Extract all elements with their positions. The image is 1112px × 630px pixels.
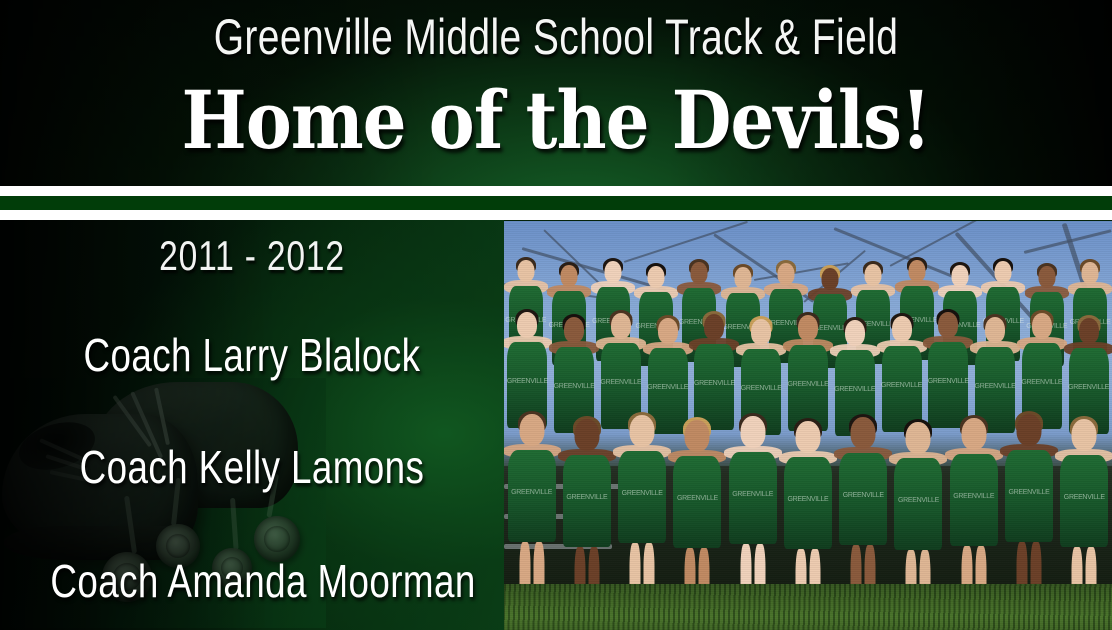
face [851,417,876,449]
tree-branch [624,221,748,263]
season-years: 2011 - 2012 [50,232,453,280]
coaches-panel: 2011 - 2012 Coach Larry Blalock Coach Ke… [0,220,504,630]
face [1082,262,1099,284]
jersey-text: GREENVILLE [666,495,728,502]
face [845,320,865,346]
jersey [1060,455,1108,547]
face [865,264,882,286]
divider-stripe-white-top [0,186,1112,196]
face [611,313,631,339]
divider-stripe-green [0,196,1112,210]
jersey [508,450,556,542]
face [519,414,544,446]
face [892,316,912,342]
face [751,319,771,345]
slogan-title: Home of the Devils! [78,80,1034,160]
face [564,317,584,343]
face [1038,266,1055,288]
face [985,317,1005,343]
jersey-text: GREENVILLE [504,489,563,496]
jersey-text: GREENVILLE [998,489,1060,496]
jersey [839,453,887,545]
face [517,260,534,282]
jersey-text: GREENVILLE [777,496,839,503]
school-title: Greenville Middle School Track & Field [122,11,989,64]
face [908,260,925,282]
coach-name-2: Coach Kelly Lamons [50,440,453,494]
face [1072,419,1097,451]
jersey [729,452,777,544]
jersey-text: GREENVILLE [1053,494,1112,501]
face [906,422,931,454]
jersey-text: GREENVILLE [611,490,673,497]
face [685,420,710,452]
face [574,419,599,451]
face [630,415,655,447]
team-banner: Greenville Middle School Track & Field H… [0,0,1112,630]
jersey [1005,450,1053,542]
jersey [950,454,998,546]
header-text-block: Greenville Middle School Track & Field H… [0,11,1112,160]
team-photo: GREENVILLEGREENVILLEGREENVILLEGREENVILLE… [504,221,1112,630]
divider-stripe-white-bottom [0,210,1112,220]
face [1032,313,1052,339]
face [647,266,664,288]
face [691,262,708,284]
jersey-text: GREENVILLE [832,492,894,499]
jersey-text: GREENVILLE [1062,384,1112,391]
jersey-text: GREENVILLE [722,491,784,498]
coach-name-1: Coach Larry Blalock [50,328,453,382]
jersey [563,455,611,547]
jersey-text: GREENVILLE [943,493,1005,500]
face [740,416,765,448]
jersey-text: GREENVILLE [887,497,949,504]
banner-header: Greenville Middle School Track & Field H… [0,0,1112,186]
face [995,261,1012,283]
face [604,261,621,283]
face [658,318,678,344]
face [517,312,537,338]
face [734,267,751,289]
face [1079,318,1099,344]
jersey [784,457,832,549]
face [778,263,795,285]
jersey [673,456,721,548]
jersey [894,458,942,550]
face [938,312,958,338]
face [798,315,818,341]
face [961,418,986,450]
face [1017,414,1042,446]
face [795,421,820,453]
face [951,265,968,287]
face [821,268,838,290]
face [561,265,578,287]
jersey [618,451,666,543]
coaches-text-block: 2011 - 2012 Coach Larry Blalock Coach Ke… [0,220,504,630]
coach-name-3: Coach Amanda Moorman [50,554,453,608]
banner-body: 2011 - 2012 Coach Larry Blalock Coach Ke… [0,220,1112,630]
jersey-text: GREENVILLE [556,494,618,501]
grass-ground [504,584,1112,630]
face [704,314,724,340]
